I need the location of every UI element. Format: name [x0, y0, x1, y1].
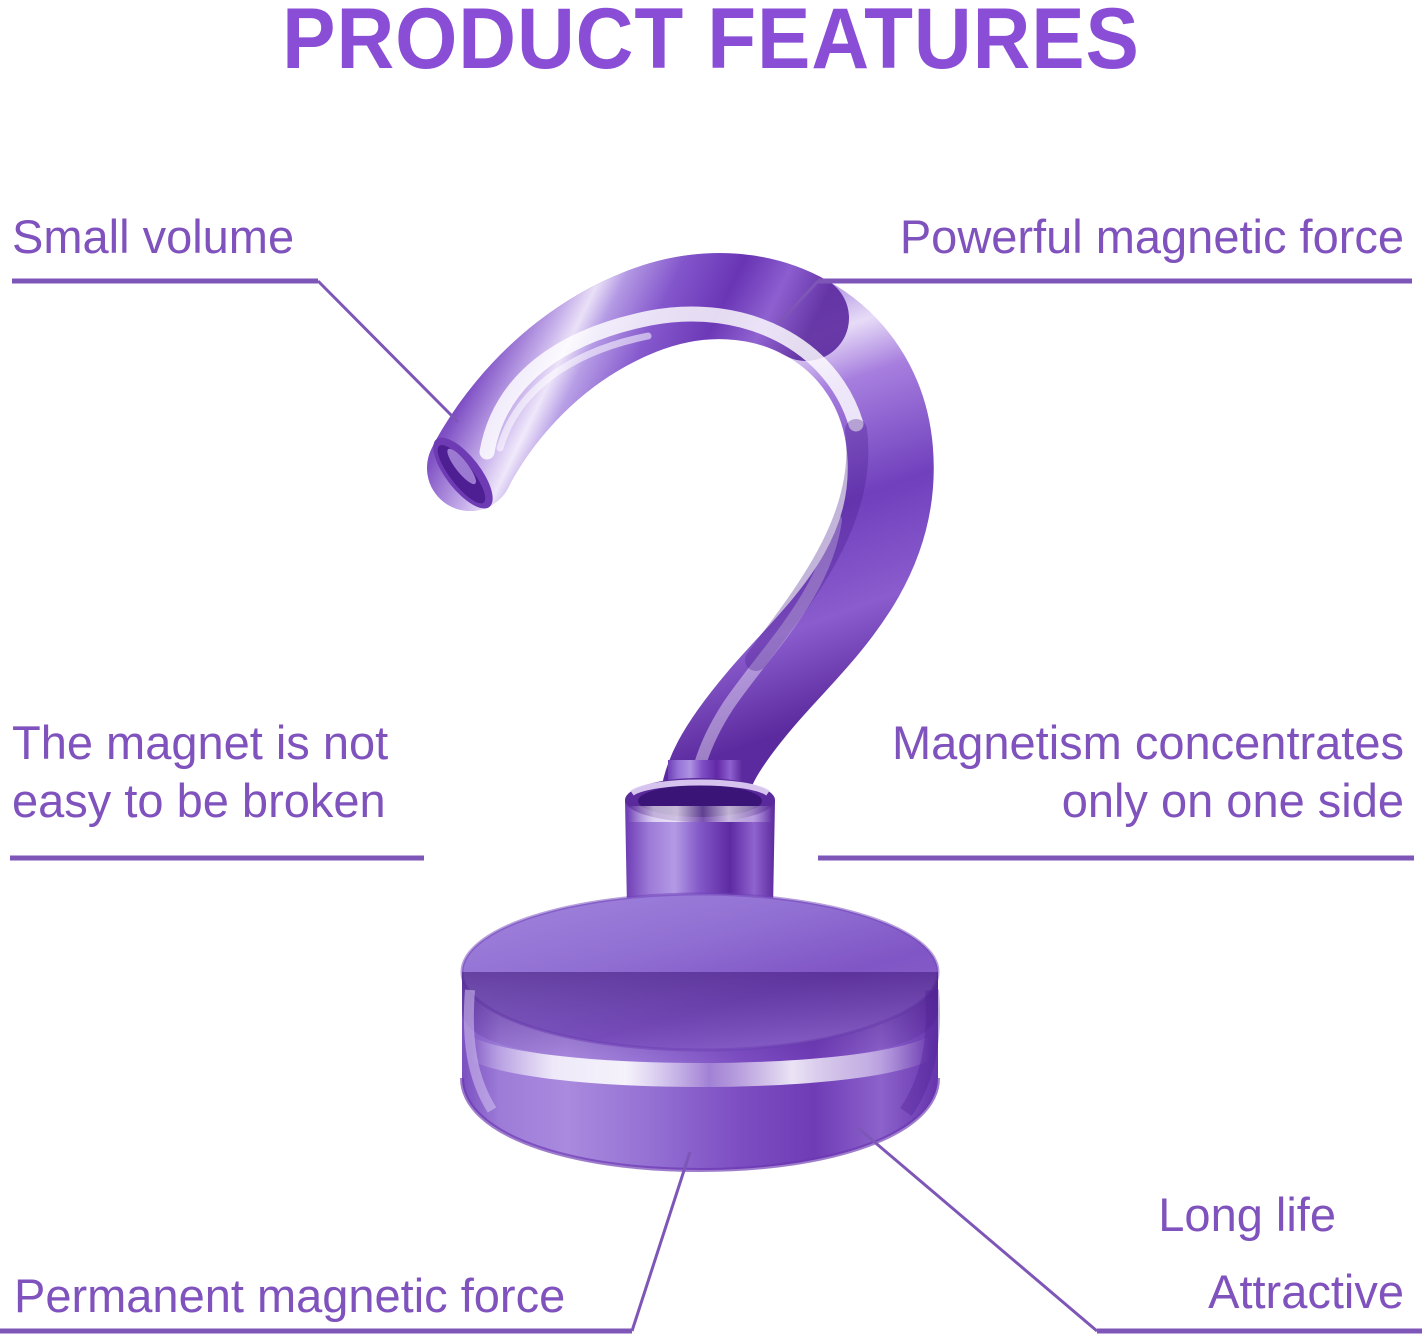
- callout-label-powerful-magnetic-force: Powerful magnetic force: [900, 208, 1404, 266]
- infographic-page: PRODUCT FEATURES: [0, 0, 1422, 1339]
- hook-part: [423, 296, 891, 800]
- callout-label-long-life: Long life: [1158, 1186, 1336, 1244]
- callout-label-small-volume: Small volume: [12, 208, 294, 266]
- product-image-magnetic-hook: [0, 0, 1422, 1339]
- callout-label-magnet-not-broken: The magnet is not easy to be broken: [12, 714, 388, 830]
- magnet-base-part: [462, 894, 938, 1170]
- callout-label-attractive: Attractive: [1208, 1263, 1404, 1321]
- callout-label-permanent-magnetic-force: Permanent magnetic force: [14, 1267, 565, 1325]
- callout-label-magnetism-one-side: Magnetism concentrates only on one side: [892, 714, 1404, 830]
